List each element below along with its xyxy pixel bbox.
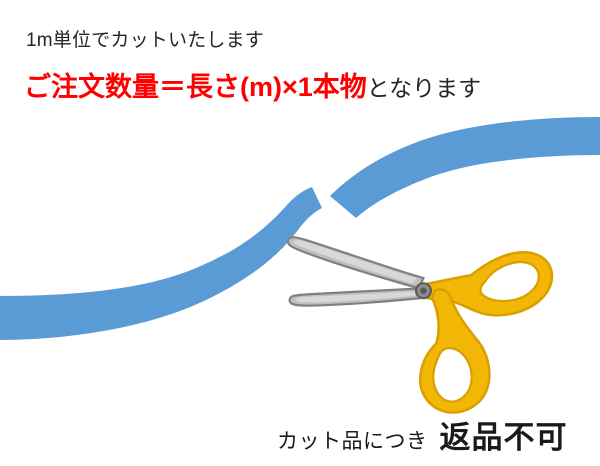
no-return-note: カット品につき返品不可	[277, 412, 568, 457]
cut-unit-note: 1m単位でカットいたします	[26, 29, 264, 53]
order-quantity-formula: ご注文数量＝長さ(m)×1本物となります	[24, 70, 481, 105]
order-quantity-formula-red: ご注文数量＝長さ(m)×1本物	[24, 72, 367, 102]
no-return-note-emphasis: 返品不可	[440, 420, 568, 455]
order-quantity-formula-black: となります	[367, 75, 481, 101]
ribbon-left-segment	[0, 187, 322, 340]
no-return-note-prefix: カット品につき	[277, 430, 428, 453]
ribbon-right-segment	[330, 117, 600, 218]
poster-canvas: 1m単位でカットいたします ご注文数量＝長さ(m)×1本物となります カット品に…	[0, 0, 600, 466]
